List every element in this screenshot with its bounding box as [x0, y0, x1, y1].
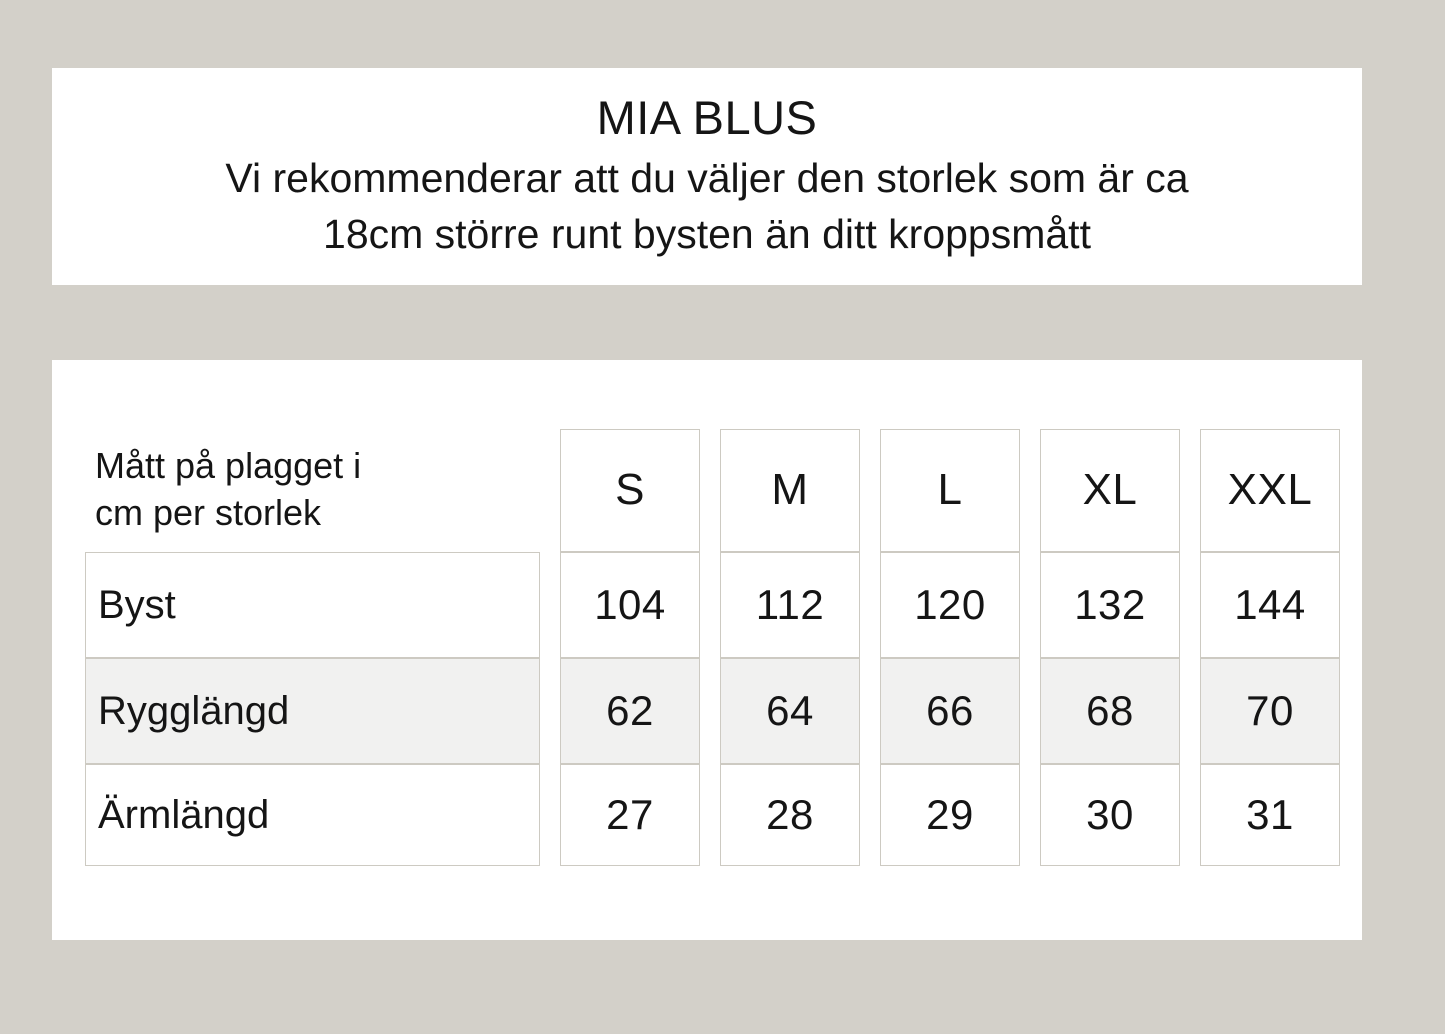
column-gap — [540, 429, 560, 552]
value-rygglangd-xl: 68 — [1040, 658, 1180, 764]
column-gap — [540, 552, 560, 658]
header-card: MIA BLUS Vi rekommenderar att du väljer … — [52, 68, 1362, 285]
value-byst-l: 120 — [880, 552, 1020, 658]
value-armlangd-s: 27 — [560, 764, 700, 866]
size-chart-page: MIA BLUS Vi rekommenderar att du väljer … — [0, 0, 1445, 1034]
column-gap — [1180, 764, 1200, 866]
value-byst-xl: 132 — [1040, 552, 1180, 658]
value-armlangd-xxl: 31 — [1200, 764, 1340, 866]
value-byst-m: 112 — [720, 552, 860, 658]
column-gap — [860, 658, 880, 764]
column-gap — [540, 658, 560, 764]
value-byst-s: 104 — [560, 552, 700, 658]
value-armlangd-m: 28 — [720, 764, 860, 866]
table-row-label-byst: Byst — [85, 552, 540, 658]
column-gap — [860, 552, 880, 658]
measurement-column-header-line-2: cm per storlek — [95, 489, 321, 536]
value-rygglangd-s: 62 — [560, 658, 700, 764]
recommendation-line-2: 18cm större runt bysten än ditt kroppsmå… — [225, 206, 1188, 262]
value-armlangd-l: 29 — [880, 764, 1020, 866]
page-title: MIA BLUS — [597, 88, 818, 148]
column-gap — [700, 658, 720, 764]
table-row-label-armlangd: Ärmlängd — [85, 764, 540, 866]
size-header-m: M — [720, 429, 860, 552]
column-gap — [1020, 552, 1040, 658]
column-gap — [540, 764, 560, 866]
column-gap — [860, 764, 880, 866]
size-table-grid: Mått på plagget i cm per storlek S M L X… — [85, 429, 1340, 866]
value-rygglangd-m: 64 — [720, 658, 860, 764]
table-row-label-rygglangd: Rygglängd — [85, 658, 540, 764]
measurement-column-header-line-1: Mått på plagget i — [95, 442, 361, 489]
size-header-s: S — [560, 429, 700, 552]
size-table: Mått på plagget i cm per storlek S M L X… — [85, 429, 1340, 866]
column-gap — [860, 429, 880, 552]
column-gap — [1020, 658, 1040, 764]
measurement-column-header: Mått på plagget i cm per storlek — [85, 429, 540, 552]
column-gap — [1020, 764, 1040, 866]
column-gap — [1180, 552, 1200, 658]
size-header-xxl: XXL — [1200, 429, 1340, 552]
size-header-l: L — [880, 429, 1020, 552]
column-gap — [1180, 658, 1200, 764]
recommendation-line-1: Vi rekommenderar att du väljer den storl… — [225, 150, 1188, 206]
recommendation-text: Vi rekommenderar att du väljer den storl… — [225, 150, 1188, 262]
column-gap — [700, 429, 720, 552]
size-table-card: Mått på plagget i cm per storlek S M L X… — [52, 360, 1362, 940]
column-gap — [700, 764, 720, 866]
value-armlangd-xl: 30 — [1040, 764, 1180, 866]
value-rygglangd-xxl: 70 — [1200, 658, 1340, 764]
column-gap — [1180, 429, 1200, 552]
column-gap — [1020, 429, 1040, 552]
value-rygglangd-l: 66 — [880, 658, 1020, 764]
size-header-xl: XL — [1040, 429, 1180, 552]
value-byst-xxl: 144 — [1200, 552, 1340, 658]
column-gap — [700, 552, 720, 658]
